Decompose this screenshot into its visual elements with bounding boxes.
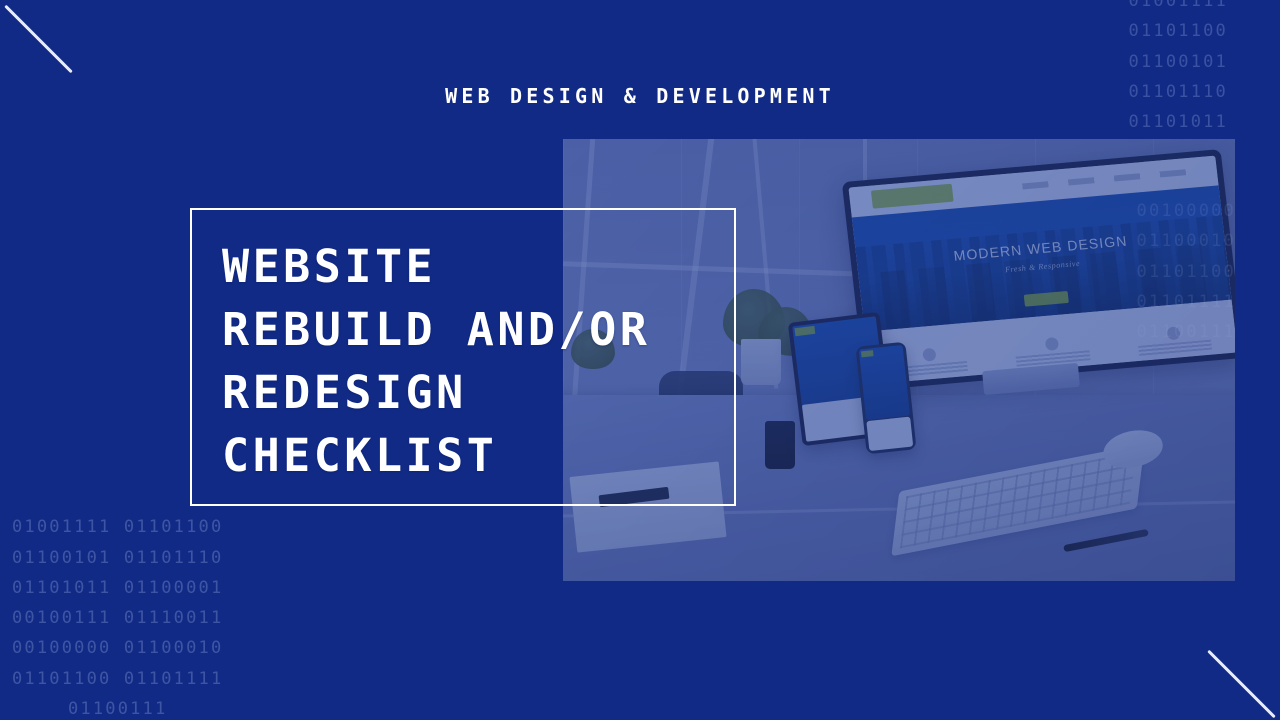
- website-logo-badge: [871, 184, 954, 208]
- slide-canvas: 01001111 01101100 01100101 01101110 0110…: [0, 0, 1280, 720]
- binary-decoration-bottom-left: 01001111 01101100 01100101 01101110 0110…: [12, 512, 223, 720]
- feature-icon: [922, 347, 936, 361]
- feature-text-lines: [1016, 350, 1090, 366]
- diagonal-line-top-left: [4, 5, 73, 74]
- phone-logo-badge: [861, 350, 874, 357]
- slide-title: WEBSITE REBUILD AND/OR REDESIGN CHECKLIS…: [222, 235, 742, 487]
- slide-kicker: WEB DESIGN & DEVELOPMENT: [0, 84, 1280, 108]
- desk-cup: [765, 421, 795, 469]
- diagonal-line-bottom-right: [1207, 650, 1276, 719]
- binary-decoration-middle-right: 00100000 01100010 01101100 01101111 0110…: [1137, 196, 1236, 347]
- phone-content-area: [866, 416, 913, 451]
- website-nav-links: [1022, 168, 1199, 189]
- plant-pot: [741, 339, 781, 385]
- clock-icon: [1044, 337, 1058, 351]
